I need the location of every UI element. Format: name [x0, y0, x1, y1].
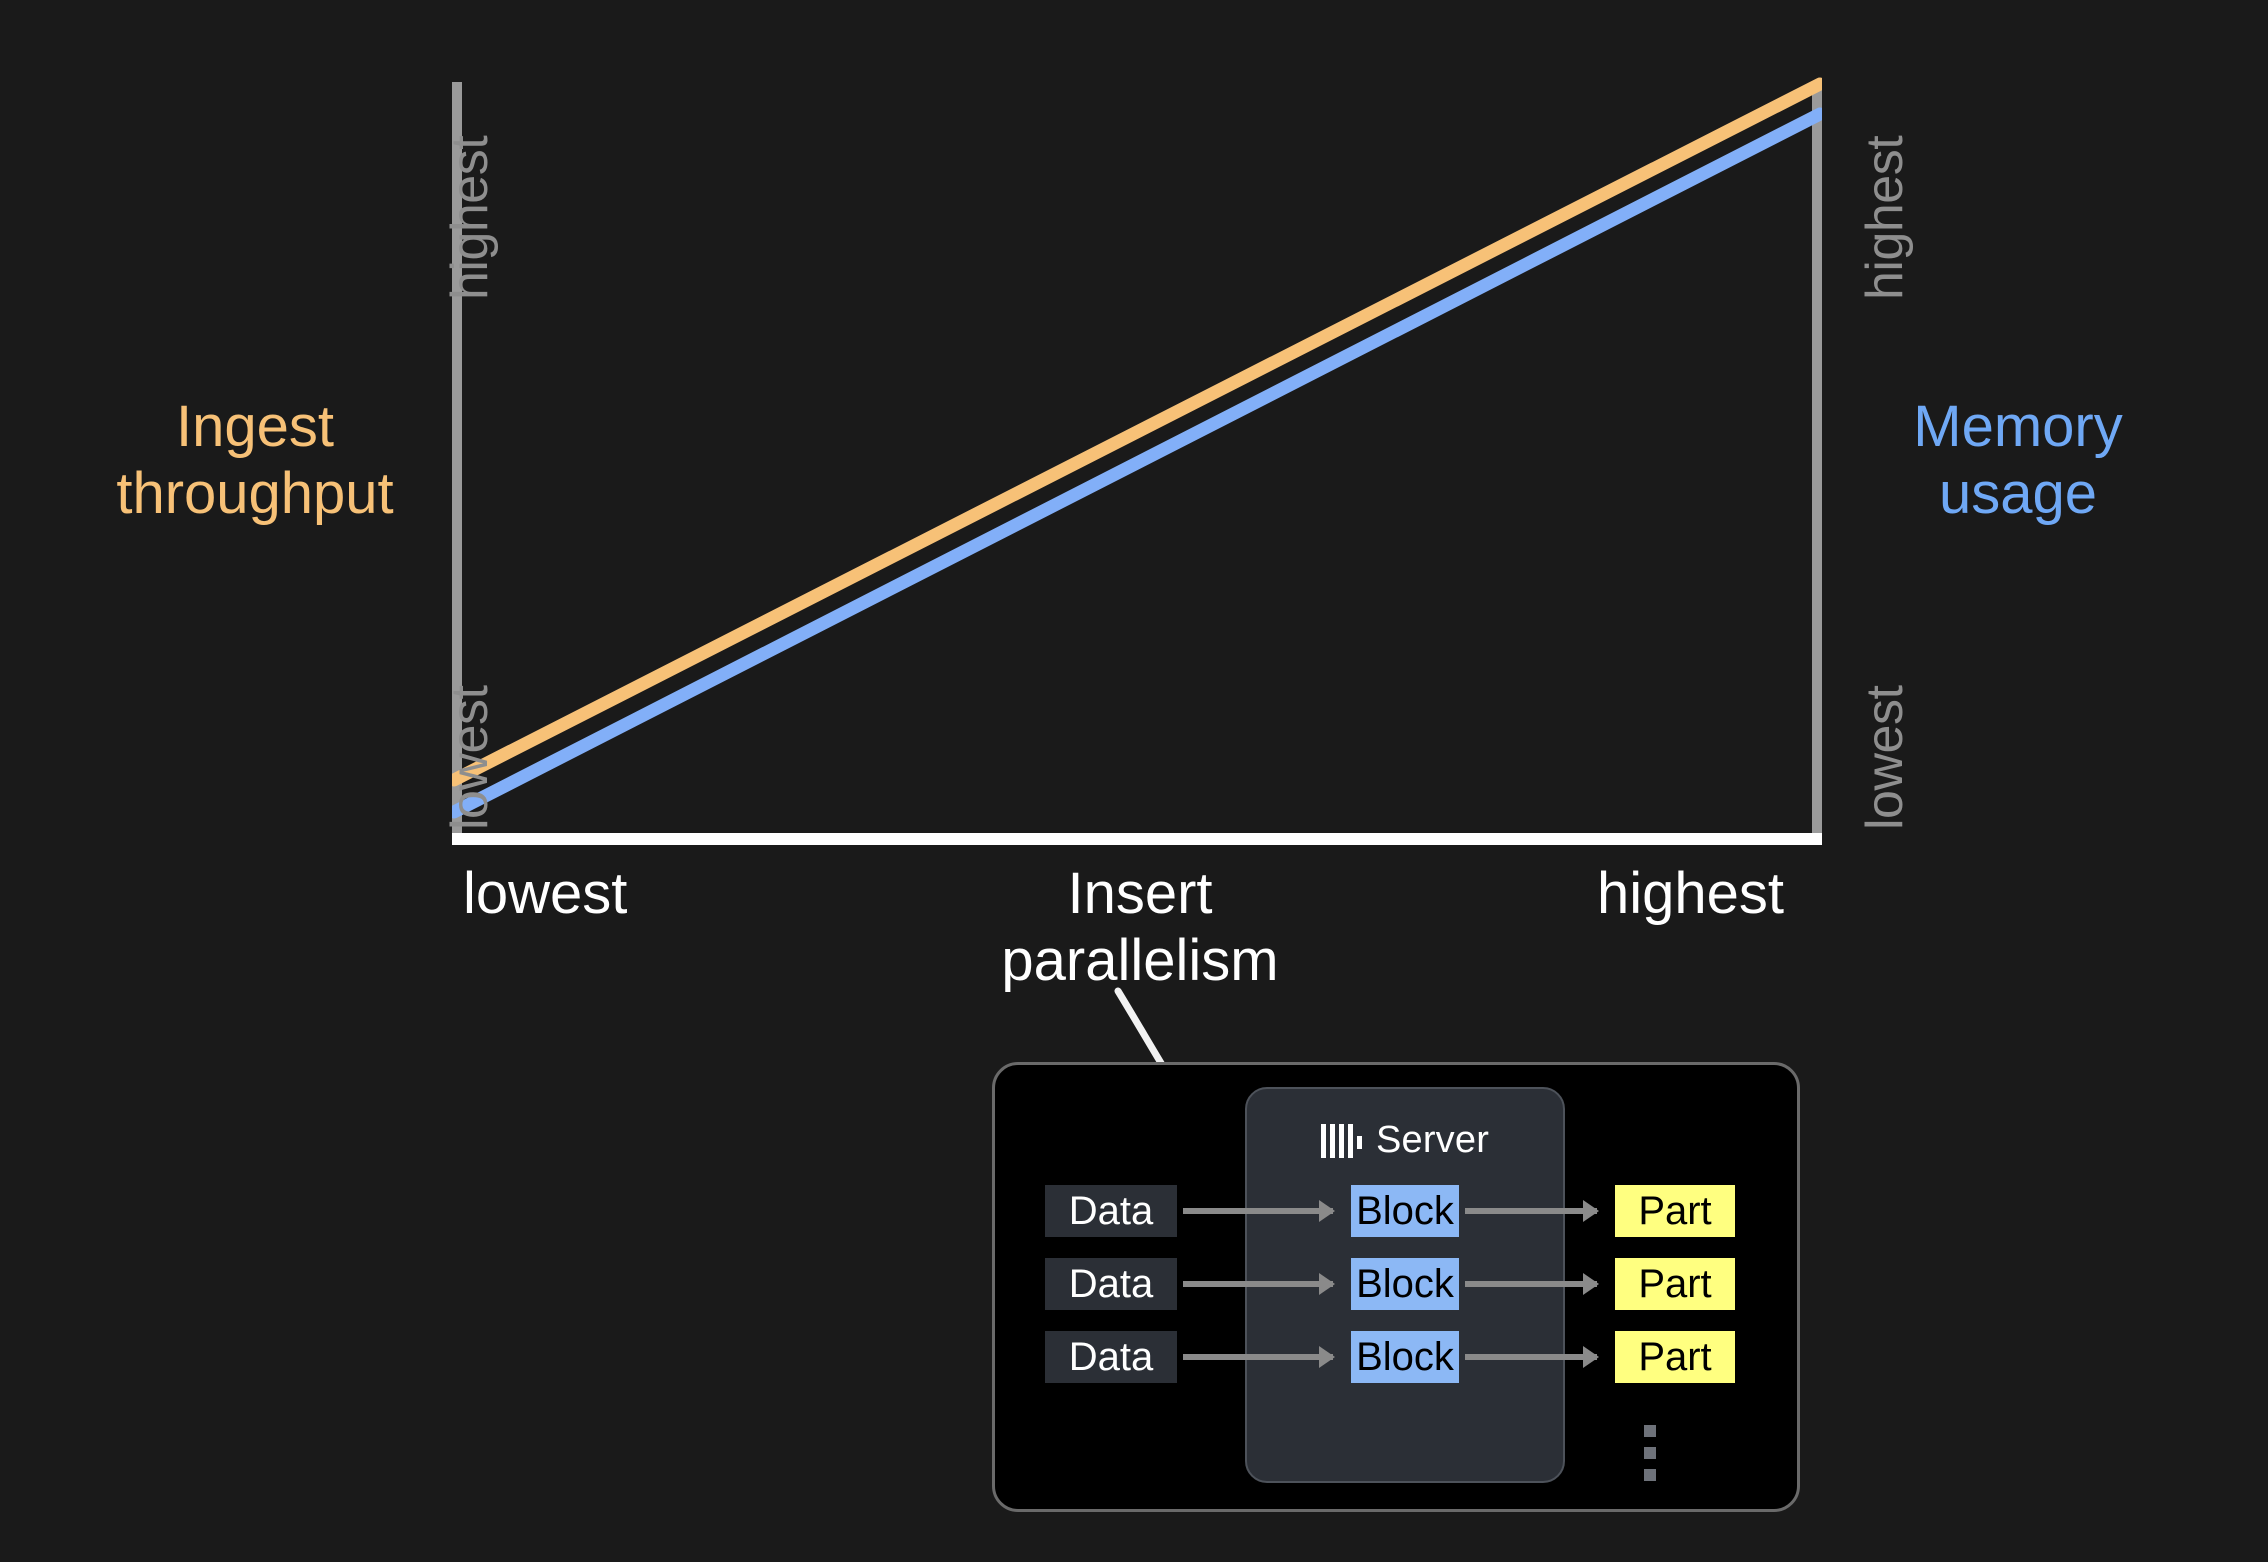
clickhouse-logo-icon — [1321, 1124, 1362, 1158]
arrow-block-to-part — [1465, 1354, 1597, 1360]
x-axis-title: Insert parallelism — [930, 860, 1350, 995]
more-blocks-ellipsis-icon — [1644, 1425, 1656, 1481]
arrow-data-to-block — [1183, 1354, 1333, 1360]
plot-lines — [452, 70, 1822, 835]
x-axis-tick-highest: highest — [1597, 860, 1784, 927]
part-node: Part — [1615, 1185, 1735, 1237]
data-node: Data — [1045, 1331, 1177, 1383]
arrow-block-to-part — [1465, 1208, 1597, 1214]
data-node: Data — [1045, 1185, 1177, 1237]
server-header: Server — [1247, 1119, 1563, 1162]
ingest-pipeline-diagram: Server Data Block Part Data Block Part D… — [992, 1062, 1800, 1512]
data-node: Data — [1045, 1258, 1177, 1310]
right-axis-tick-lowest: lowest — [1855, 686, 1915, 830]
part-node: Part — [1615, 1331, 1735, 1383]
series-line-memory-usage — [454, 114, 1820, 812]
x-axis-tick-lowest: lowest — [463, 860, 627, 927]
series-line-ingest-throughput — [454, 84, 1820, 780]
block-node: Block — [1351, 1185, 1459, 1237]
block-node: Block — [1351, 1258, 1459, 1310]
part-node: Part — [1615, 1258, 1735, 1310]
block-node: Block — [1351, 1331, 1459, 1383]
arrow-block-to-part — [1465, 1281, 1597, 1287]
right-axis-title: Memory usage — [1848, 393, 2188, 528]
left-axis-tick-highest: highest — [440, 136, 500, 300]
right-axis-tick-highest: highest — [1855, 136, 1915, 300]
arrow-data-to-block — [1183, 1208, 1333, 1214]
left-axis-title: Ingest throughput — [90, 393, 420, 528]
left-axis-tick-lowest: lowest — [440, 686, 500, 830]
chart-region: highest lowest highest lowest Ingest thr… — [0, 0, 2268, 1010]
arrow-data-to-block — [1183, 1281, 1333, 1287]
server-label: Server — [1376, 1119, 1489, 1162]
